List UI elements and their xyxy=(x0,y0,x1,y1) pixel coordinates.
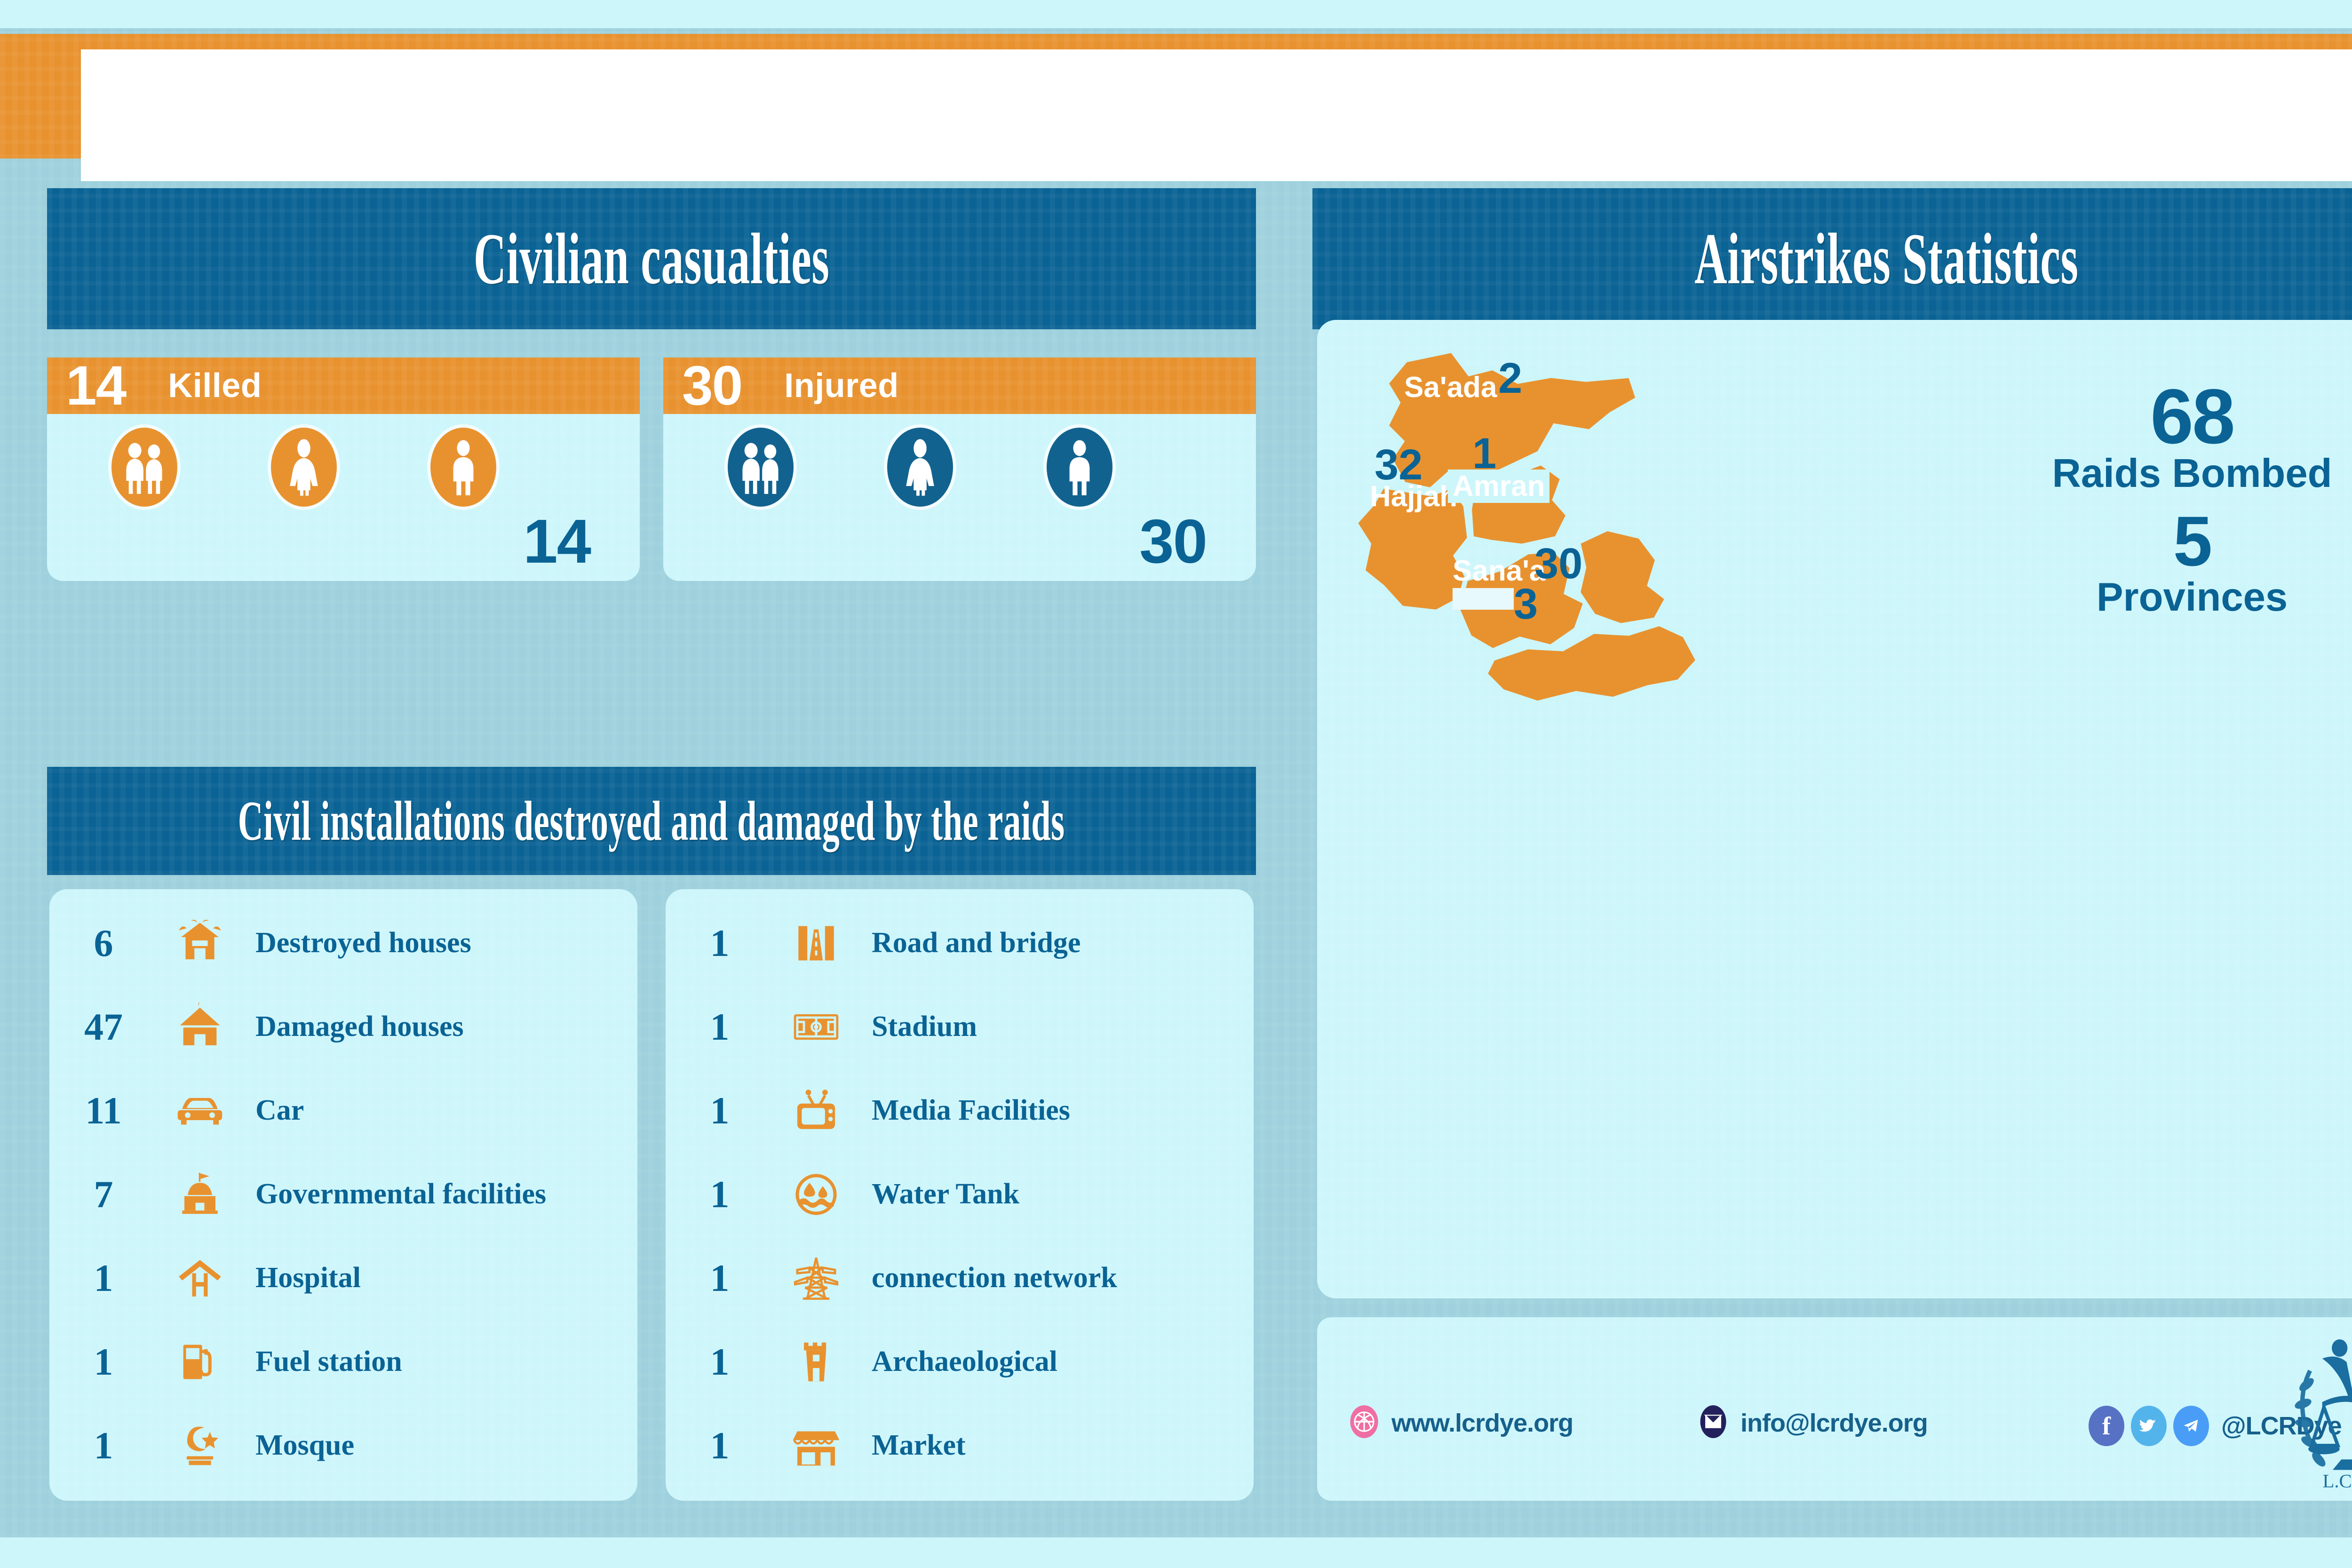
airstrikes-title: Airstrikes Statistics xyxy=(1694,217,2078,301)
map-label-south-blank xyxy=(1453,588,1514,610)
installation-count: 1 xyxy=(666,1091,774,1130)
destroyed-house-icon xyxy=(158,918,242,968)
airstrikes-header: Airstrikes Statistics xyxy=(1312,188,2352,329)
injured-total: 30 xyxy=(1139,510,1207,573)
installation-label: Car xyxy=(242,1096,637,1125)
installation-row: 6Destroyed houses xyxy=(49,901,637,985)
yemen-provinces-map xyxy=(1345,339,1853,823)
installation-label: Hospital xyxy=(242,1263,637,1293)
installation-count: 1 xyxy=(666,1343,774,1381)
killed-label: Killed xyxy=(168,366,262,405)
installation-count: 7 xyxy=(49,1175,158,1214)
woman-icon xyxy=(268,424,340,510)
installation-row: 1Hospital xyxy=(49,1236,637,1320)
children-icon xyxy=(108,424,181,510)
government-building-icon xyxy=(158,1170,242,1219)
installation-row: 1Stadium xyxy=(666,985,1254,1069)
logo-acronym: L.C.R.D xyxy=(2322,1471,2352,1492)
provinces-value: 5 xyxy=(1962,506,2352,576)
installation-label: Road and bridge xyxy=(858,928,1254,958)
injured-card: 30 Injured xyxy=(663,358,1256,581)
installation-label: connection network xyxy=(858,1263,1254,1293)
map-value-sanaa: 30 xyxy=(1534,542,1582,585)
killed-card: 14 Killed xyxy=(47,358,640,581)
killed-body: 14 xyxy=(47,414,640,581)
email-item[interactable]: info@lcrdye.org xyxy=(1698,1404,1928,1441)
installations-left-card: 6Destroyed houses47Damaged houses11Car7G… xyxy=(49,889,637,1501)
civil-installations-header: Civil installations destroyed and damage… xyxy=(47,767,1256,875)
airstrike-stats: 68 Raids Bombed 5 Provinces xyxy=(1962,381,2352,618)
map-value-saada: 2 xyxy=(1498,357,1522,400)
installation-count: 1 xyxy=(666,1175,774,1214)
market-stall-icon xyxy=(774,1424,858,1468)
installation-row: 11Car xyxy=(49,1069,637,1153)
installations-right-card: 1Road and bridge1Stadium1Media Facilitie… xyxy=(666,889,1254,1501)
hospital-icon xyxy=(158,1253,242,1303)
injured-bar: 30 Injured xyxy=(663,358,1256,414)
installation-row: 47Damaged houses xyxy=(49,985,637,1069)
car-icon xyxy=(158,1091,242,1130)
installation-row: 1connection network xyxy=(666,1236,1254,1320)
installation-count: 6 xyxy=(49,924,158,963)
installation-count: 1 xyxy=(49,1259,158,1297)
installation-label: Market xyxy=(858,1431,1254,1460)
civil-installations-title: Civil installations destroyed and damage… xyxy=(238,788,1065,853)
installation-count: 1 xyxy=(666,924,774,963)
raids-label: Raids Bombed xyxy=(1962,453,2352,494)
installation-count: 11 xyxy=(49,1091,158,1130)
children-icon xyxy=(724,424,797,510)
installation-row: 1Market xyxy=(666,1404,1254,1488)
stadium-icon xyxy=(774,1007,858,1047)
transmission-tower-icon xyxy=(774,1253,858,1303)
map-value-hajjah: 32 xyxy=(1375,443,1422,486)
installation-label: Stadium xyxy=(858,1012,1254,1042)
airstrikes-map-panel: Sa'ada 2 Hajjah 32 Amran 1 Sana'a 30 3 6… xyxy=(1317,320,2352,1298)
injured-label: Injured xyxy=(784,366,899,405)
map-value-amran: 1 xyxy=(1472,432,1496,475)
facebook-icon[interactable]: f xyxy=(2089,1406,2124,1446)
installation-row: 1Water Tank xyxy=(666,1153,1254,1236)
installation-count: 1 xyxy=(666,1259,774,1297)
lcrd-logo: L.C.R.D xyxy=(2268,1322,2352,1496)
installation-label: Governmental facilities xyxy=(242,1179,637,1209)
installation-count: 1 xyxy=(666,1426,774,1465)
province-east xyxy=(1578,529,1668,626)
installation-row: 1Archaeological xyxy=(666,1320,1254,1404)
installation-label: Mosque xyxy=(242,1431,637,1460)
raids-value: 68 xyxy=(1962,381,2352,453)
installation-label: Media Facilities xyxy=(858,1096,1254,1125)
installation-row: 1Mosque xyxy=(49,1404,637,1488)
installation-label: Damaged houses xyxy=(242,1012,637,1042)
installation-count: 47 xyxy=(49,1008,158,1046)
fuel-pump-icon xyxy=(158,1337,242,1387)
road-icon xyxy=(774,918,858,968)
injured-count: 30 xyxy=(682,358,742,414)
damaged-house-icon xyxy=(158,1002,242,1052)
woman-icon xyxy=(884,424,956,510)
injured-body: 30 xyxy=(663,414,1256,581)
mosque-crescent-icon xyxy=(158,1421,242,1471)
email-text: info@lcrdye.org xyxy=(1740,1409,1928,1438)
man-icon xyxy=(427,424,500,510)
killed-bar: 14 Killed xyxy=(47,358,640,414)
provinces-label: Provinces xyxy=(1962,576,2352,618)
website-item[interactable]: www.lcrdye.org xyxy=(1349,1404,1573,1441)
installation-label: Fuel station xyxy=(242,1347,637,1377)
television-icon xyxy=(774,1086,858,1136)
installation-row: 1Fuel station xyxy=(49,1320,637,1404)
installation-count: 1 xyxy=(49,1343,158,1381)
map-value-south: 3 xyxy=(1514,582,1538,626)
installation-row: 1Road and bridge xyxy=(666,901,1254,985)
envelope-icon xyxy=(1698,1404,1728,1441)
man-icon xyxy=(1043,424,1116,510)
civilian-casualties-title: Civilian casualties xyxy=(474,217,830,301)
telegram-icon[interactable] xyxy=(2173,1406,2209,1446)
installation-count: 1 xyxy=(49,1426,158,1465)
map-label-saada: Sa'ada xyxy=(1404,371,1497,404)
installation-row: 7Governmental facilities xyxy=(49,1153,637,1236)
killed-count: 14 xyxy=(66,358,126,414)
twitter-icon[interactable] xyxy=(2131,1406,2167,1446)
installation-label: Archaeological xyxy=(858,1347,1254,1377)
dribbble-icon xyxy=(1349,1404,1379,1441)
installation-row: 1Media Facilities xyxy=(666,1069,1254,1153)
website-text: www.lcrdye.org xyxy=(1391,1409,1573,1438)
map-label-amran: Amran xyxy=(1448,470,1549,503)
title-banner xyxy=(81,49,2352,181)
water-drop-icon xyxy=(774,1170,858,1219)
killed-total: 14 xyxy=(523,510,590,573)
installation-count: 1 xyxy=(666,1008,774,1046)
contact-footer: www.lcrdye.org info@lcrdye.org f @LCRDye xyxy=(1317,1317,2352,1501)
civilian-casualties-header: Civilian casualties xyxy=(47,188,1256,329)
tower-castle-icon xyxy=(774,1337,858,1387)
installation-label: Water Tank xyxy=(858,1179,1254,1209)
installation-label: Destroyed houses xyxy=(242,928,637,958)
